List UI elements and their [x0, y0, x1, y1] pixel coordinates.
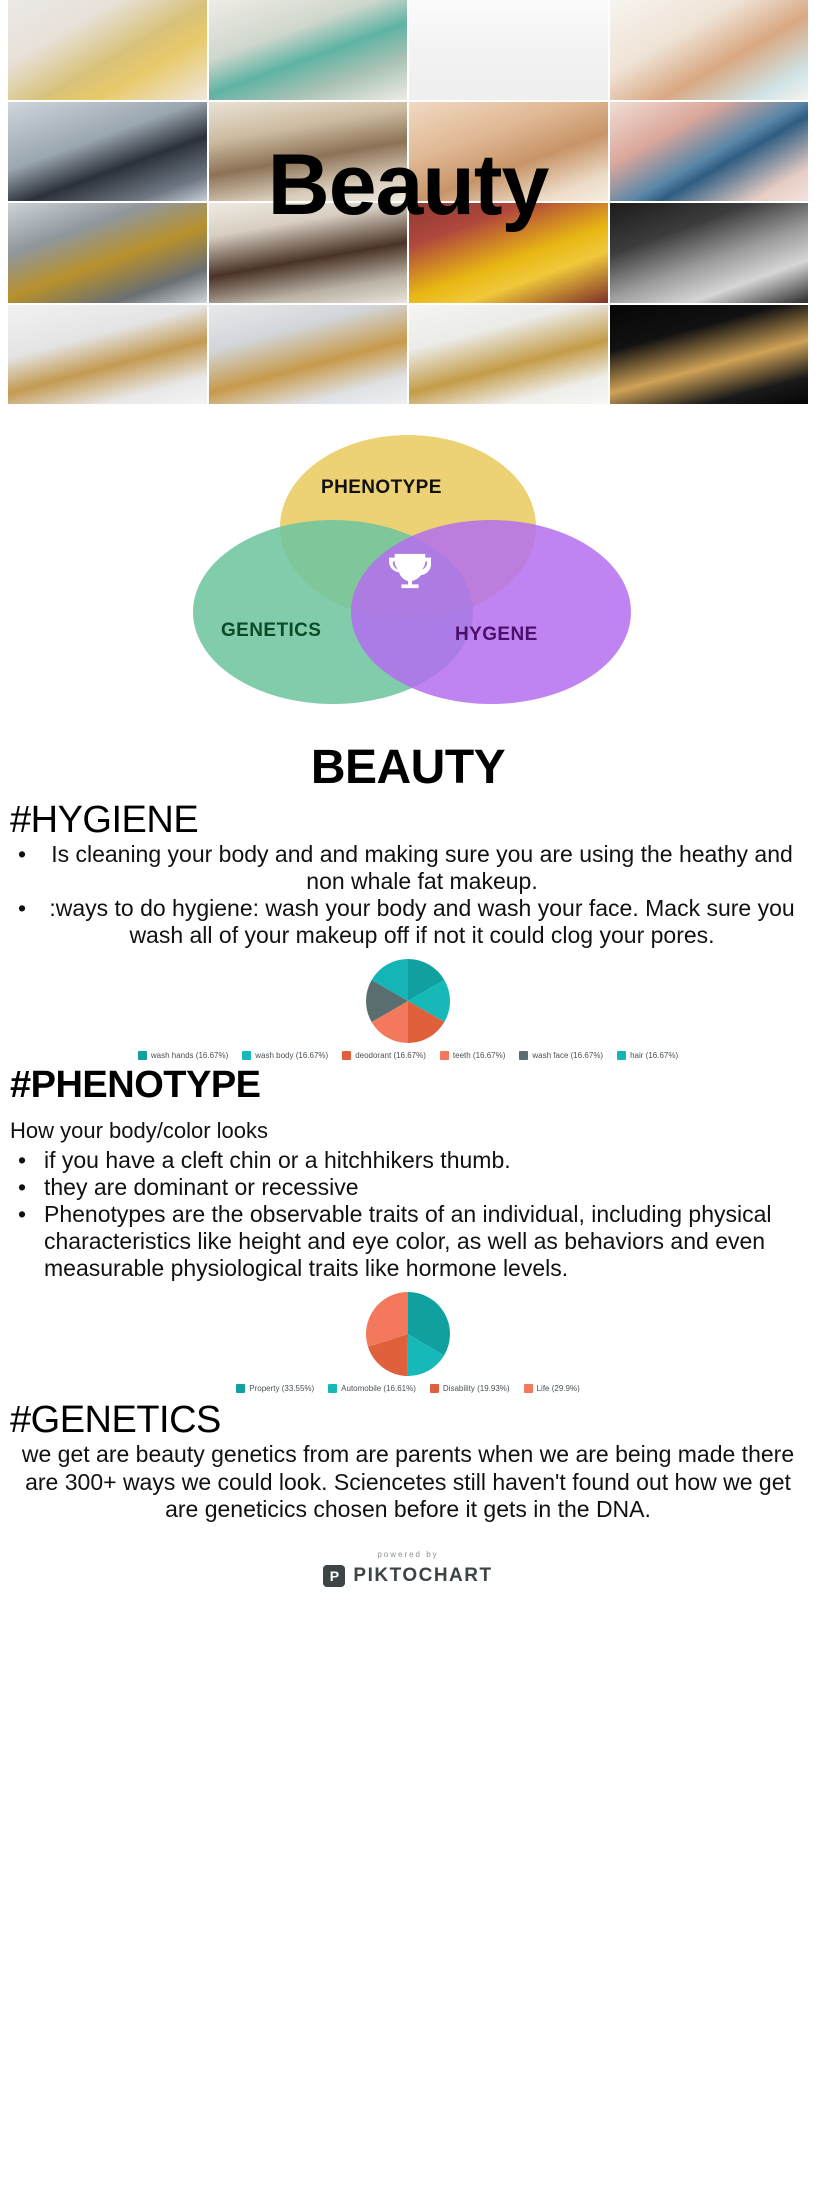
hygiene-section: #HYGIENE Is cleaning your body and and m… — [0, 801, 816, 949]
collage-tile-10 — [209, 203, 408, 303]
legend-swatch — [440, 1051, 449, 1060]
section-heading-phenotype: #PHENOTYPE — [10, 1066, 806, 1106]
section-heading-genetics: #GENETICS — [10, 1401, 806, 1441]
collage-tile-8 — [610, 102, 809, 202]
legend-label: Property (33.55%) — [249, 1384, 314, 1393]
phenotype-intro-text: How your body/color looks — [10, 1118, 806, 1144]
legend-swatch — [138, 1051, 147, 1060]
collage-tile-9 — [8, 203, 207, 303]
list-item: :ways to do hygiene: wash your body and … — [10, 895, 806, 949]
legend-label: teeth (16.67%) — [453, 1051, 505, 1060]
collage-tile-13 — [8, 305, 207, 405]
list-item: if you have a cleft chin or a hitchhiker… — [10, 1147, 806, 1174]
collage-tile-15 — [409, 305, 608, 405]
venn-circle-hygene — [351, 520, 631, 704]
legend-item: hair (16.67%) — [617, 1051, 678, 1060]
legend-item: Disability (19.93%) — [430, 1384, 510, 1393]
hygiene-pie-chart — [366, 959, 450, 1043]
piktochart-logo-icon — [323, 1565, 345, 1587]
hygiene-pie-legend: wash hands (16.67%)wash body (16.67%)deo… — [0, 1051, 816, 1060]
brand-row[interactable]: PIKTOCHART — [0, 1565, 816, 1587]
legend-swatch — [430, 1384, 439, 1393]
hero-collage-banner: Beauty — [0, 0, 816, 404]
legend-label: wash hands (16.67%) — [151, 1051, 228, 1060]
legend-swatch — [524, 1384, 533, 1393]
collage-tile-2 — [209, 0, 408, 100]
venn-diagram-section: PHENOTYPE GENETICS HYGENE — [0, 404, 816, 734]
legend-label: Disability (19.93%) — [443, 1384, 510, 1393]
collage-tile-3 — [409, 0, 608, 100]
legend-item: deodorant (16.67%) — [342, 1051, 426, 1060]
collage-tile-16 — [610, 305, 809, 405]
collage-tile-6 — [209, 102, 408, 202]
legend-swatch — [519, 1051, 528, 1060]
photo-collage-grid — [8, 0, 808, 404]
legend-label: hair (16.67%) — [630, 1051, 678, 1060]
phenotype-bullet-list: if you have a cleft chin or a hitchhiker… — [10, 1147, 806, 1283]
venn-diagram: PHENOTYPE GENETICS HYGENE — [173, 422, 643, 722]
phenotype-pie-chart — [366, 1292, 450, 1376]
venn-label-phenotype: PHENOTYPE — [321, 477, 442, 499]
legend-swatch — [342, 1051, 351, 1060]
collage-tile-11 — [409, 203, 608, 303]
legend-item: teeth (16.67%) — [440, 1051, 505, 1060]
hygiene-pie-holder — [0, 959, 816, 1043]
legend-label: wash body (16.67%) — [255, 1051, 328, 1060]
legend-label: Life (29.9%) — [537, 1384, 580, 1393]
legend-swatch — [242, 1051, 251, 1060]
genetics-paragraph: we get are beauty genetics from are pare… — [10, 1441, 806, 1524]
legend-swatch — [236, 1384, 245, 1393]
legend-item: wash face (16.67%) — [519, 1051, 603, 1060]
genetics-section: #GENETICS we get are beauty genetics fro… — [0, 1401, 816, 1524]
legend-item: Life (29.9%) — [524, 1384, 580, 1393]
venn-label-hygene: HYGENE — [455, 624, 538, 646]
list-item: Is cleaning your body and and making sur… — [10, 841, 806, 895]
collage-tile-5 — [8, 102, 207, 202]
phenotype-pie-chart-block: Property (33.55%)Automobile (16.61%)Disa… — [0, 1292, 816, 1393]
hygiene-pie-chart-block: wash hands (16.67%)wash body (16.67%)deo… — [0, 959, 816, 1060]
phenotype-pie-holder — [0, 1292, 816, 1376]
phenotype-section: #PHENOTYPE How your body/color looks if … — [0, 1066, 816, 1282]
legend-item: Automobile (16.61%) — [328, 1384, 416, 1393]
collage-tile-1 — [8, 0, 207, 100]
beauty-title-section: BEAUTY — [0, 740, 816, 795]
collage-tile-12 — [610, 203, 809, 303]
venn-label-genetics: GENETICS — [221, 620, 321, 642]
collage-tile-4 — [610, 0, 809, 100]
list-item: they are dominant or recessive — [10, 1174, 806, 1201]
trophy-icon — [387, 550, 433, 592]
collage-tile-7 — [409, 102, 608, 202]
footer: powered by PIKTOCHART — [0, 1524, 816, 1587]
legend-swatch — [617, 1051, 626, 1060]
legend-item: wash hands (16.67%) — [138, 1051, 228, 1060]
legend-label: wash face (16.67%) — [532, 1051, 603, 1060]
list-item: Phenotypes are the observable traits of … — [10, 1201, 806, 1282]
phenotype-pie-legend: Property (33.55%)Automobile (16.61%)Disa… — [0, 1384, 816, 1393]
section-heading-hygiene: #HYGIENE — [10, 801, 806, 841]
powered-by-label: powered by — [0, 1550, 816, 1559]
legend-label: Automobile (16.61%) — [341, 1384, 416, 1393]
legend-item: Property (33.55%) — [236, 1384, 314, 1393]
hygiene-bullet-list: Is cleaning your body and and making sur… — [10, 841, 806, 950]
legend-label: deodorant (16.67%) — [355, 1051, 426, 1060]
brand-name: PIKTOCHART — [353, 1565, 492, 1587]
legend-item: wash body (16.67%) — [242, 1051, 328, 1060]
collage-tile-14 — [209, 305, 408, 405]
legend-swatch — [328, 1384, 337, 1393]
page-title-beauty: BEAUTY — [10, 740, 806, 795]
